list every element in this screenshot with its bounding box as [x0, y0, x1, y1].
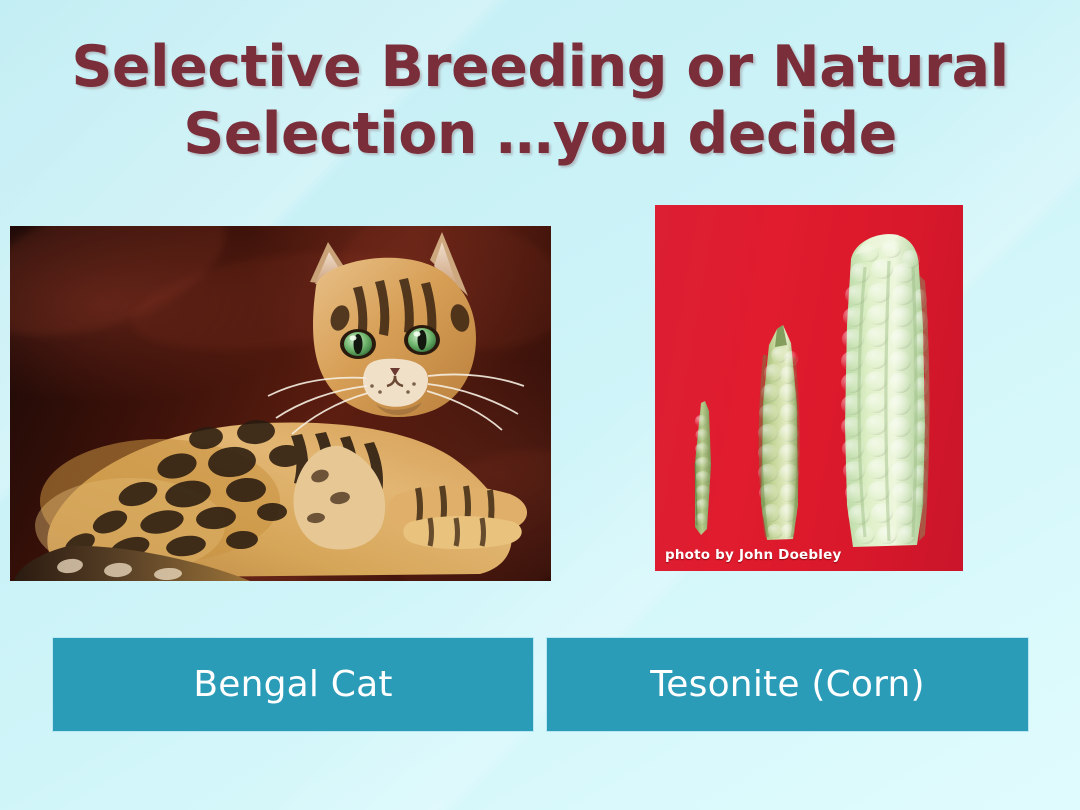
teosinte-corn-photo: photo by John Doebley	[655, 205, 963, 571]
caption-bar-label: Tesonite (Corn)	[650, 664, 925, 705]
caption-bar-bengal-cat[interactable]: Bengal Cat	[52, 637, 534, 732]
caption-bar-tesonite-corn[interactable]: Tesonite (Corn)	[546, 637, 1029, 732]
slide-title: Selective Breeding or Natural Selection …	[0, 34, 1080, 168]
photo-credit-caption: photo by John Doebley	[665, 547, 841, 563]
cat-eye-left	[340, 329, 376, 359]
corn-ear-maize	[841, 234, 930, 547]
corn-ears-illustration	[655, 205, 963, 571]
bengal-cat-photo	[10, 226, 551, 581]
corn-ear-hybrid	[758, 325, 799, 540]
cat-eye-right	[404, 325, 440, 355]
slide-canvas: Selective Breeding or Natural Selection …	[0, 0, 1080, 810]
caption-bar-label: Bengal Cat	[193, 664, 392, 705]
corn-ear-teosinte	[695, 401, 711, 535]
bengal-cat-illustration	[10, 226, 551, 581]
cat-muzzle	[363, 359, 428, 407]
